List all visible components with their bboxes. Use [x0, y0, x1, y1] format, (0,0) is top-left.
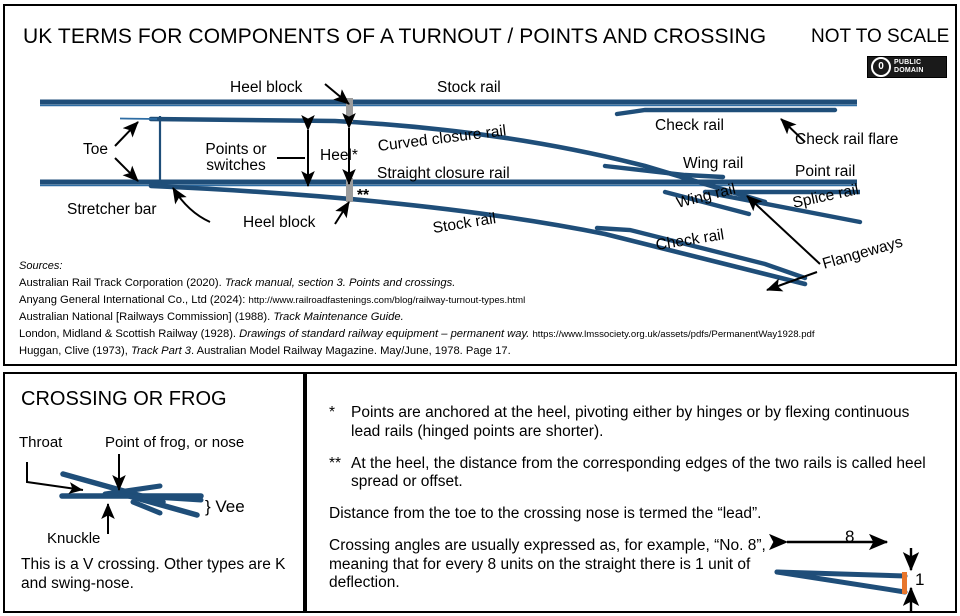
source-text: Australian National [Railways Commission…	[19, 311, 273, 323]
sources-heading: Sources:	[19, 258, 949, 275]
source-url[interactable]: http://www.railroadfastenings.com/blog/r…	[249, 295, 526, 306]
source-title: Drawings of standard railway equipment –…	[239, 328, 529, 340]
notes-panel: * Points are anchored at the heel, pivot…	[305, 372, 957, 613]
note-item: * Points are anchored at the heel, pivot…	[329, 404, 937, 442]
note-text: At the heel, the distance from the corre…	[351, 455, 937, 493]
frog-panel-note: This is a V crossing. Other types are K …	[21, 556, 293, 593]
source-item: London, Midland & Scottish Railway (1928…	[19, 326, 949, 343]
sources-block: Sources: Australian Rail Track Corporati…	[19, 258, 949, 360]
source-item: Australian National [Railways Commission…	[19, 309, 949, 326]
label-wing-rail-top: Wing rail	[683, 156, 743, 172]
angle-rise-label: 1	[915, 570, 924, 590]
angle-vee-rails	[777, 572, 905, 592]
source-title: Track Part 3	[131, 345, 191, 357]
label-check-rail-flare: Check rail flare	[795, 132, 898, 148]
label-toe: Toe	[83, 142, 108, 158]
source-item: Australian Rail Track Corporation (2020)…	[19, 275, 949, 292]
note-marker: *	[329, 404, 351, 442]
source-url[interactable]: https://www.lmssociety.org.uk/assets/pdf…	[532, 329, 814, 340]
label-vee: } Vee	[205, 497, 245, 517]
label-point-rail: Point rail	[795, 164, 855, 180]
label-double-star: **	[357, 188, 369, 204]
sources-list: Australian Rail Track Corporation (2020)…	[19, 275, 949, 360]
note-text: Points are anchored at the heel, pivotin…	[351, 404, 937, 442]
note-marker: **	[329, 455, 351, 493]
source-text: Anyang General International Co., Ltd (2…	[19, 294, 249, 306]
frog-rails	[62, 474, 201, 515]
label-check-rail-top: Check rail	[655, 118, 724, 134]
deflection-bar	[902, 572, 907, 594]
main-diagram-panel: UK TERMS FOR COMPONENTS OF A TURNOUT / P…	[3, 4, 957, 366]
note-lead-definition: Distance from the toe to the crossing no…	[329, 505, 937, 524]
label-stock-rail-top: Stock rail	[437, 80, 501, 96]
crossing-angle-diagram	[759, 526, 955, 612]
source-title: Track Maintenance Guide.	[273, 311, 403, 323]
label-point-of-frog: Point of frog, or nose	[105, 434, 244, 451]
source-item: Huggan, Clive (1973), Track Part 3. Aust…	[19, 343, 949, 360]
source-text: London, Midland & Scottish Railway (1928…	[19, 328, 239, 340]
label-heel-block-top: Heel block	[230, 80, 302, 96]
note-item: ** At the heel, the distance from the co…	[329, 455, 937, 493]
diagram-page: UK TERMS FOR COMPONENTS OF A TURNOUT / P…	[0, 0, 960, 616]
label-throat: Throat	[19, 434, 62, 451]
crossing-frog-panel: CROSSING OR FROG	[3, 372, 305, 613]
source-text: Australian Rail Track Corporation (2020)…	[19, 277, 225, 289]
label-points-or-switches: Points or switches	[195, 142, 277, 174]
source-item: Anyang General International Co., Ltd (2…	[19, 292, 949, 309]
source-text: . Australian Model Railway Magazine. May…	[191, 345, 511, 357]
source-text: Huggan, Clive (1973),	[19, 345, 131, 357]
label-heel-block-bottom: Heel block	[243, 215, 315, 231]
label-stretcher-bar: Stretcher bar	[67, 202, 157, 218]
note-crossing-angle: Crossing angles are usually expressed as…	[329, 537, 791, 593]
source-title: Track manual, section 3. Points and cros…	[225, 277, 456, 289]
angle-run-label: 8	[845, 527, 854, 547]
label-knuckle: Knuckle	[47, 530, 100, 547]
label-straight-closure-rail: Straight closure rail	[377, 166, 510, 182]
label-heel: Heel*	[320, 148, 358, 164]
